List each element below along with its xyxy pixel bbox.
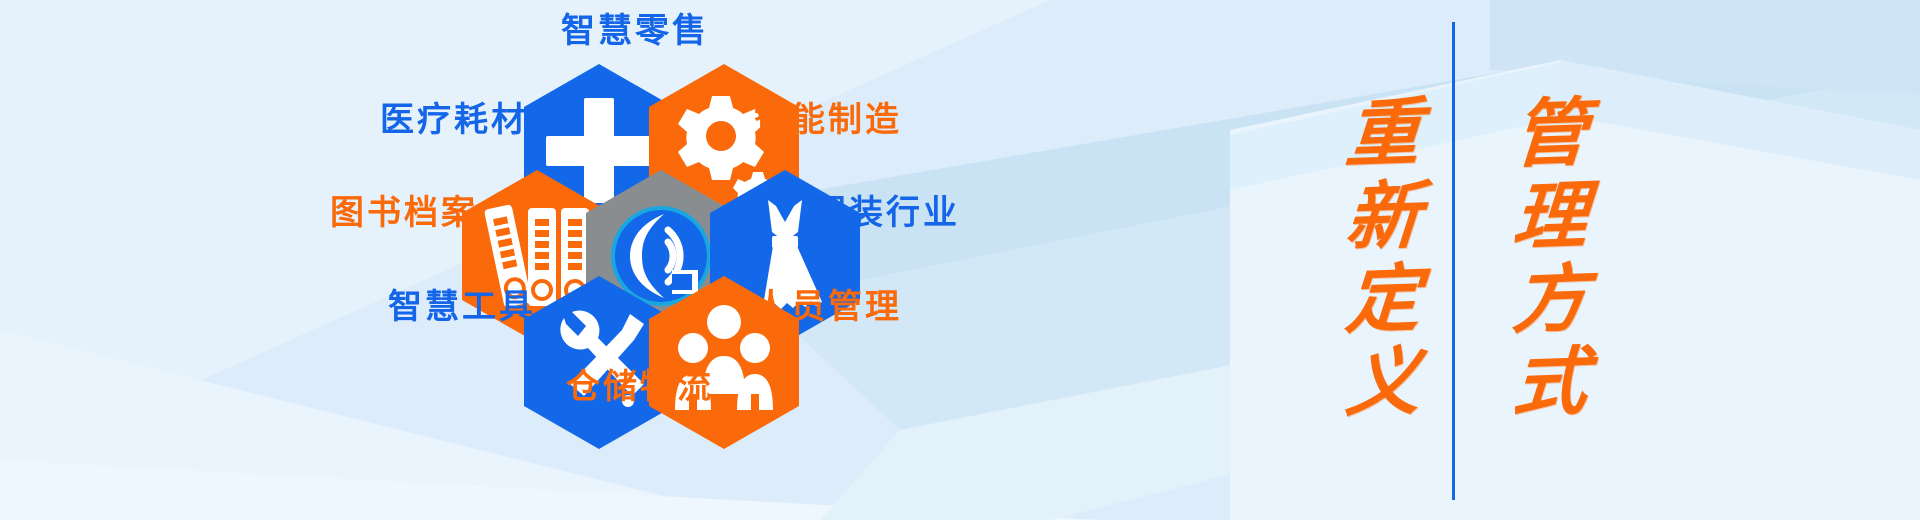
slogan-divider [1452, 22, 1455, 500]
slogan-char: 重 [1343, 96, 1423, 175]
label-warehouse-logistics: 仓储物流 [566, 370, 714, 404]
background-decoration [0, 0, 1920, 520]
slogan-char: 定 [1343, 262, 1423, 341]
slogan-column-right: 管 理 方 式 [1490, 0, 1610, 520]
slogan-char: 式 [1510, 345, 1590, 424]
slogan-char: 管 [1510, 96, 1590, 175]
slogan-char: 理 [1510, 179, 1590, 258]
label-personnel-management: 人员管理 [754, 290, 902, 324]
label-apparel-industry: 服装行业 [812, 196, 960, 230]
slogan-char: 义 [1343, 345, 1423, 424]
slogan-char: 方 [1510, 262, 1590, 341]
label-smart-manufacturing: 智能制造 [754, 103, 902, 137]
slogan-char: 新 [1343, 179, 1423, 258]
label-medical-supplies: 医疗耗材 [380, 103, 528, 137]
slogan-block: 重 新 定 义 管 理 方 式 [1285, 0, 1615, 520]
label-library-archive: 图书档案 [330, 196, 478, 230]
label-smart-tools: 智慧工具 [388, 290, 536, 324]
slogan-column-left: 重 新 定 义 [1323, 0, 1443, 520]
label-smart-retail: 智慧零售 [561, 14, 709, 48]
promo-banner: 智慧零售 医疗耗材 智能制造 图书档案 服装行业 智慧工具 人员管理 仓储物流 … [0, 0, 1920, 520]
